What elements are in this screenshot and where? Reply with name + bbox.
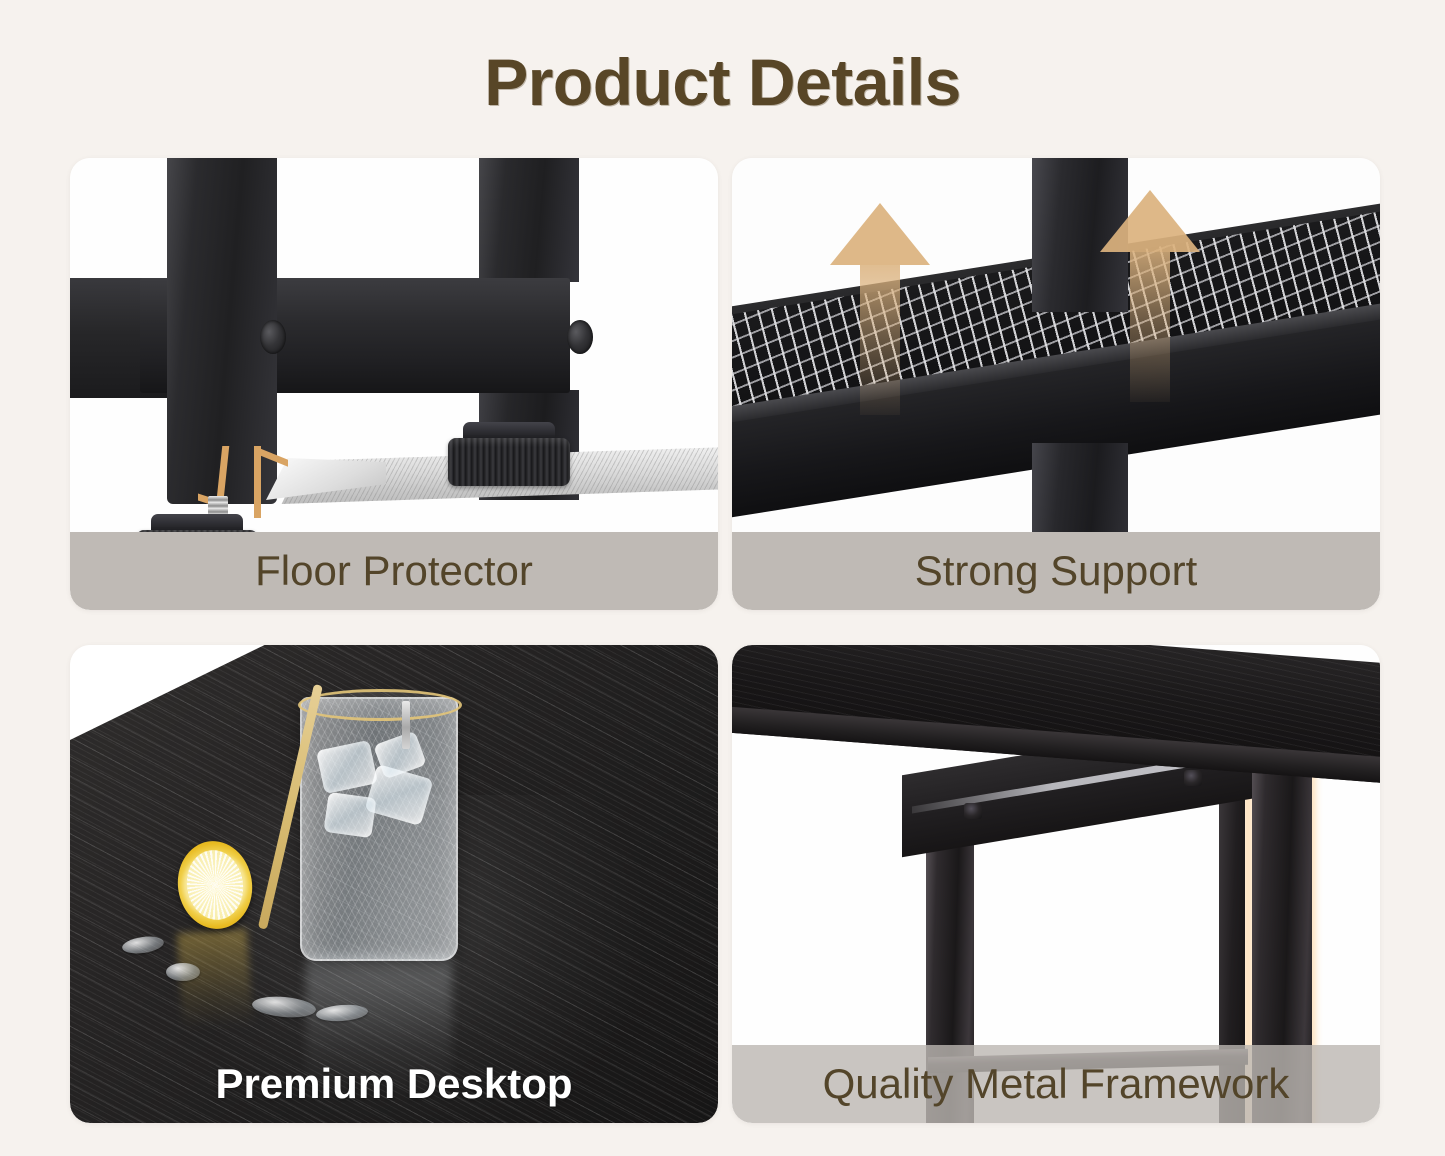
water-droplet xyxy=(166,963,200,981)
arrow-up-icon xyxy=(830,203,930,415)
metal-stirrer xyxy=(402,701,410,749)
desk-leg-right-upper xyxy=(479,158,579,282)
bolt-icon xyxy=(260,320,286,354)
panel-floor-protector[interactable]: Floor Protector xyxy=(70,158,718,610)
lift-marker-icon xyxy=(254,446,261,518)
page-title: Product Details xyxy=(0,44,1445,120)
ice-cube xyxy=(323,792,376,838)
panel-caption-quality-metal-framework: Quality Metal Framework xyxy=(732,1045,1380,1123)
product-details-grid: Floor Protector Strong Support xyxy=(70,158,1380,1123)
panel-strong-support[interactable]: Strong Support xyxy=(732,158,1380,610)
screw-icon xyxy=(1184,770,1202,786)
panel-quality-metal-framework[interactable]: Quality Metal Framework xyxy=(732,645,1380,1123)
panel-caption-premium-desktop: Premium Desktop xyxy=(70,1045,718,1123)
drinking-glass xyxy=(300,697,458,961)
leveling-foot-right xyxy=(448,438,570,486)
panel-premium-desktop[interactable]: Premium Desktop xyxy=(70,645,718,1123)
glass-gold-rim xyxy=(298,689,462,721)
panel-caption-strong-support: Strong Support xyxy=(732,532,1380,610)
arrow-up-icon xyxy=(1100,190,1200,402)
bolt-icon xyxy=(567,320,593,354)
screw-icon xyxy=(964,803,982,819)
panel-caption-floor-protector: Floor Protector xyxy=(70,532,718,610)
